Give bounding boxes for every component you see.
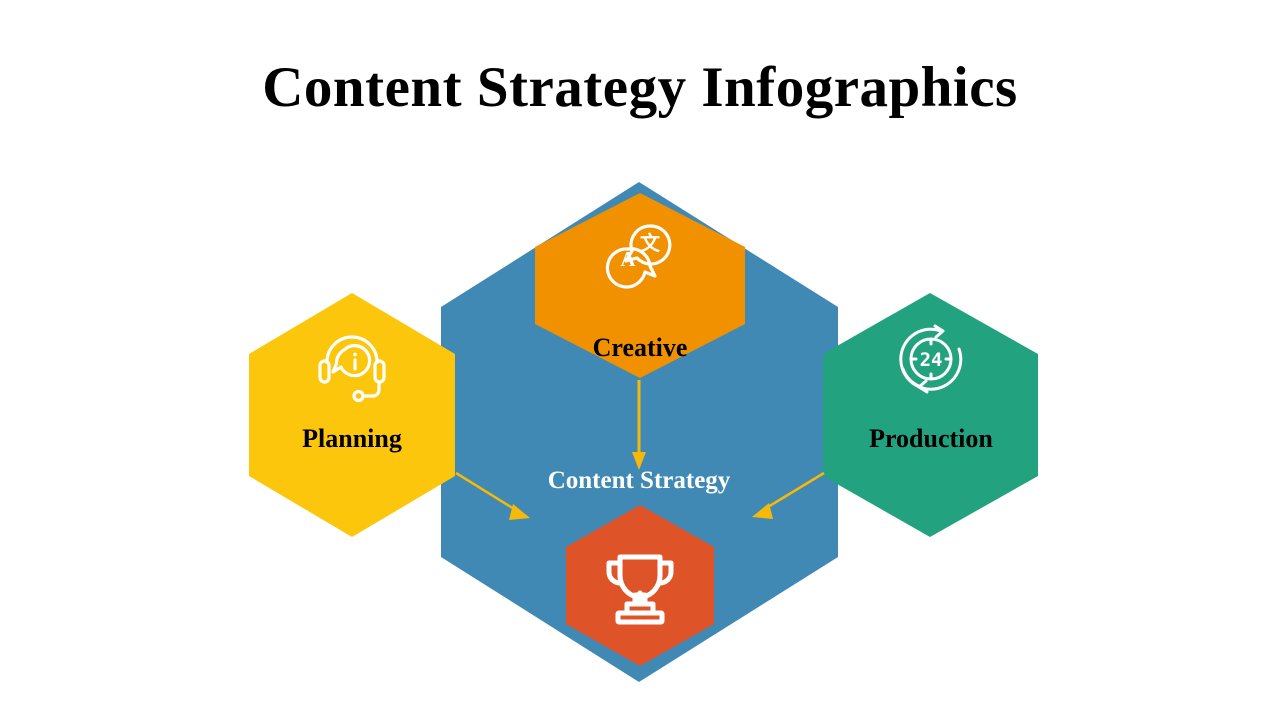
node-hexagon-planning[interactable]	[249, 293, 455, 537]
translate-icon-glyph-cjk: 文	[640, 231, 661, 255]
translate-icon-glyph-latin: A	[620, 247, 636, 271]
infographic-diagram: A 文 24	[0, 0, 1280, 720]
slide-canvas: Content Strategy Infographics	[0, 0, 1280, 720]
clock-icon-glyph-24: 24	[920, 349, 943, 371]
